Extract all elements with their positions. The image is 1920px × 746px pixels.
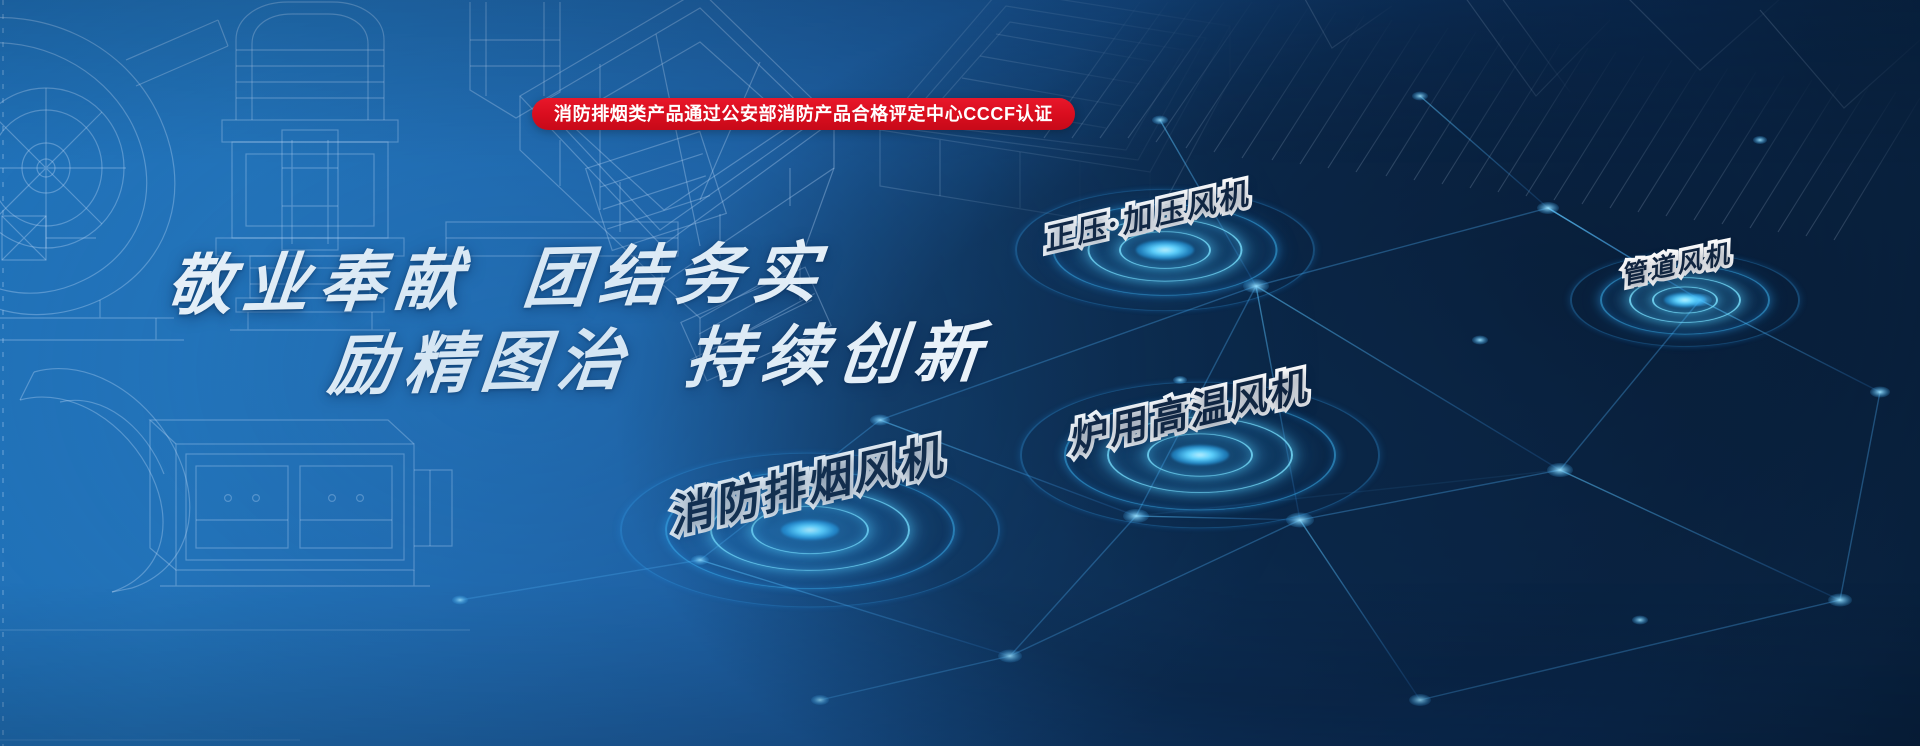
slogan-line-1: 敬业奉献团结务实 [162, 219, 833, 329]
node-core-glow [1171, 445, 1229, 465]
blueprint-frame-topleft [2, 216, 96, 260]
blueprint-beams-right [1300, 0, 1920, 108]
slogan-gap [631, 381, 683, 382]
product-node-gaowen[interactable]: 炉用高温风机 [1000, 360, 1400, 550]
product-node-zhengya[interactable]: 正压·加压风机 [1000, 170, 1330, 330]
blueprint-angled-machine [520, 0, 834, 381]
node-core-glow [1664, 293, 1706, 308]
blueprint-detail-box [446, 222, 678, 256]
slogan-line1-part1: 敬业奉献 [163, 241, 476, 325]
slogan-gap [469, 301, 521, 302]
slogan-line2-part1: 励精图治 [325, 321, 638, 405]
product-node-guandao[interactable]: 管道风机 [1560, 240, 1810, 360]
node-core-glow [781, 520, 839, 540]
slogan-line2-part2: 持续创新 [682, 313, 995, 397]
certification-banner-text: 消防排烟类产品通过公安部消防产品合格评定中心CCCF认证 [554, 105, 1053, 123]
slogan-line-2: 励精图治持续创新 [324, 299, 995, 409]
hero-banner: 消防排烟风机 正压·加压风机 管道风机 [0, 0, 1920, 746]
blueprint-ahu-cabinet [150, 420, 452, 586]
blueprint-oval-duct [20, 369, 190, 592]
slogan-line1-part2: 团结务实 [520, 233, 833, 317]
node-core-glow [1136, 240, 1194, 260]
blueprint-centrifugal-fan [0, 18, 228, 340]
blueprint-roof-ventilator [216, 2, 404, 330]
blueprint-baseline [0, 630, 470, 740]
certification-banner[interactable]: 消防排烟类产品通过公安部消防产品合格评定中心CCCF认证 [532, 98, 1075, 130]
product-node-paiyan[interactable]: 消防排烟风机 [600, 430, 1020, 630]
